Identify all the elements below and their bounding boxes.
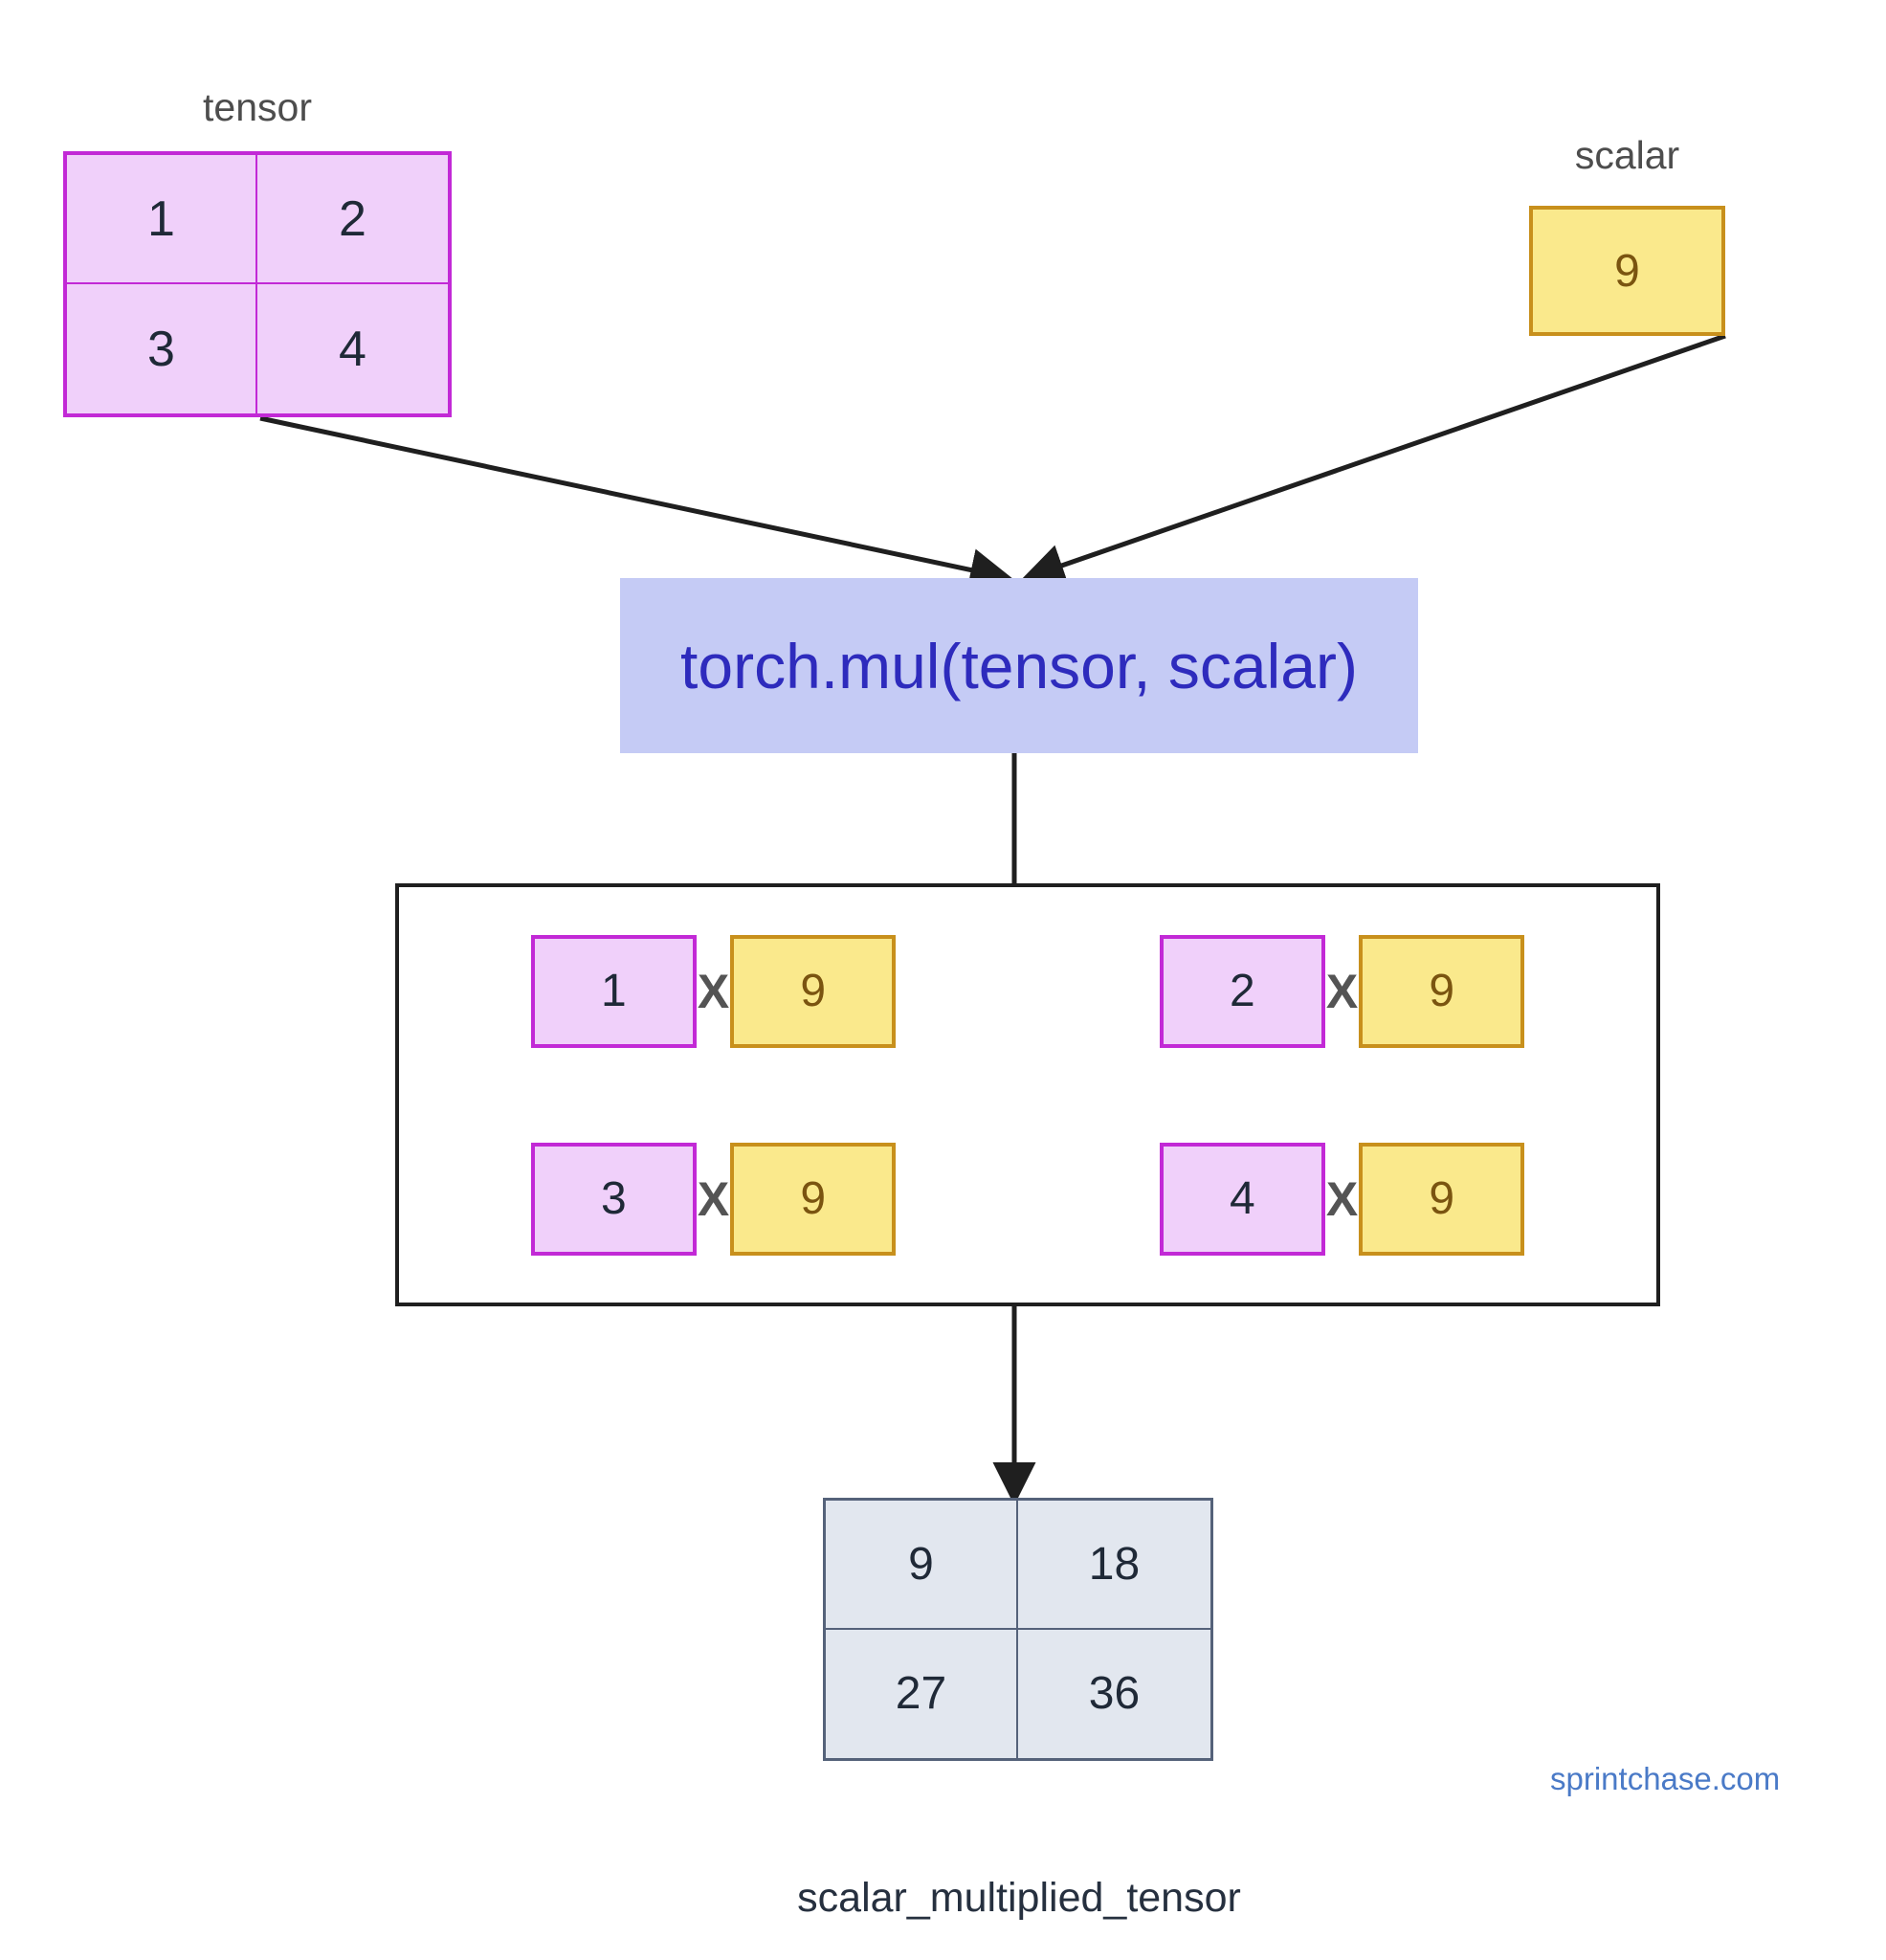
input-tensor-cell: 3 (67, 284, 257, 413)
computation-pair: 4 X 9 (1160, 1143, 1524, 1256)
computation-operand-tensor: 2 (1160, 935, 1325, 1048)
output-tensor-cell: 27 (826, 1630, 1018, 1759)
input-scalar-label: scalar (1529, 136, 1725, 175)
computation-panel: 1 X 9 2 X 9 3 X 9 4 X 9 (395, 883, 1660, 1306)
computation-grid: 1 X 9 2 X 9 3 X 9 4 X 9 (399, 887, 1656, 1303)
input-scalar-box: 9 (1529, 206, 1725, 336)
watermark-link[interactable]: sprintchase.com (1550, 1763, 1780, 1794)
computation-pair: 2 X 9 (1160, 935, 1524, 1048)
output-tensor-cell: 18 (1018, 1501, 1210, 1630)
input-tensor-matrix: 1 2 3 4 (63, 151, 452, 417)
computation-pair: 3 X 9 (531, 1143, 896, 1256)
operation-box: torch.mul(tensor, scalar) (620, 578, 1418, 753)
input-tensor-cell: 4 (257, 284, 448, 413)
computation-operand-tensor: 4 (1160, 1143, 1325, 1256)
computation-operand-scalar: 9 (1359, 935, 1524, 1048)
computation-operand-tensor: 1 (531, 935, 697, 1048)
input-tensor-cell: 2 (257, 155, 448, 284)
computation-operand-scalar: 9 (730, 935, 896, 1048)
output-tensor-matrix: 9 18 27 36 (823, 1498, 1213, 1761)
multiply-operator-icon: X (1325, 1175, 1359, 1223)
input-tensor-cell: 1 (67, 155, 257, 284)
arrow-tensor-to-op (260, 418, 1009, 578)
computation-pair: 1 X 9 (531, 935, 896, 1048)
input-tensor-label: tensor (63, 88, 452, 127)
computation-operand-tensor: 3 (531, 1143, 697, 1256)
multiply-operator-icon: X (697, 1175, 730, 1223)
multiply-operator-icon: X (1325, 968, 1359, 1015)
multiply-operator-icon: X (697, 968, 730, 1015)
computation-operand-scalar: 9 (1359, 1143, 1524, 1256)
computation-operand-scalar: 9 (730, 1143, 896, 1256)
arrow-scalar-to-op (1026, 336, 1725, 578)
diagram-canvas: tensor 1 2 3 4 scalar 9 torch.mul(tensor… (0, 0, 1886, 1960)
output-tensor-cell: 36 (1018, 1630, 1210, 1759)
output-tensor-label: scalar_multiplied_tensor (727, 1878, 1311, 1919)
output-tensor-cell: 9 (826, 1501, 1018, 1630)
